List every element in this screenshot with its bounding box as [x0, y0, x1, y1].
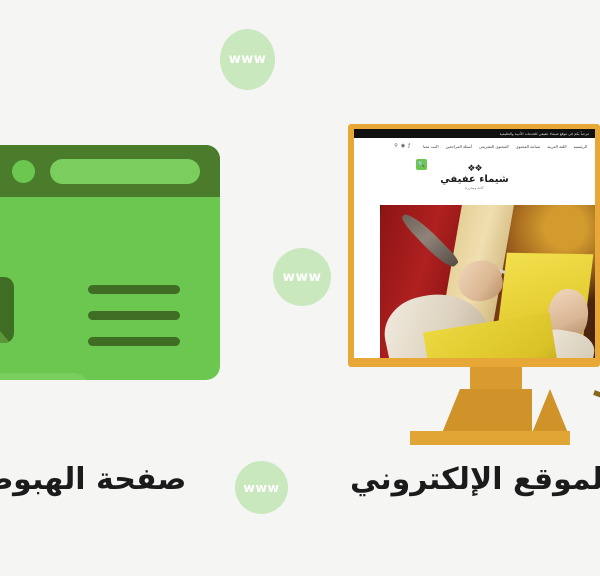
- nav-item-content[interactable]: صناعة المحتوى: [516, 144, 541, 149]
- monitor-bezel: مرحباً بكم في موقع شيماء عفيفي للخدمات ا…: [348, 124, 600, 367]
- nav-item-arabic[interactable]: اللغة العربية: [547, 144, 566, 149]
- www-bubble-label: www: [243, 480, 279, 495]
- cta-placeholder: [0, 373, 90, 380]
- www-bubble-label: www: [229, 52, 267, 67]
- monitor-stand-right: [532, 389, 568, 433]
- site-hero-image: [380, 205, 595, 358]
- site-logo[interactable]: ❖❖ شيماء عفيفي كاتبة ومحررة: [354, 165, 595, 190]
- site-social-icons: ⚲ ◉ ƒ: [394, 144, 410, 149]
- facebook-icon[interactable]: ƒ: [408, 144, 410, 149]
- browser-mockup: [0, 145, 220, 380]
- site-announcement-bar: مرحباً بكم في موقع شيماء عفيفي للخدمات ا…: [354, 129, 595, 138]
- monitor-base: [410, 431, 570, 445]
- nav-item-faq[interactable]: أسئلة المراجعين: [446, 144, 472, 149]
- www-bubble-top: www: [220, 29, 275, 90]
- caption-website: الموقع الإلكتروني: [350, 465, 600, 495]
- window-dot-icon: [12, 160, 35, 183]
- address-bar: [50, 159, 200, 184]
- logo-name: شيماء عفيفي: [354, 174, 595, 187]
- instagram-icon[interactable]: ◉: [401, 144, 405, 149]
- text-line-placeholder: [88, 311, 180, 320]
- nav-item-legislative[interactable]: المحتوى التشريعي: [479, 144, 509, 149]
- search-icon[interactable]: ⚲: [394, 144, 398, 149]
- caption-landing-page: صفحة الهبوط: [0, 465, 186, 495]
- www-bubble-middle: www: [273, 248, 331, 306]
- logo-subtitle: كاتبة ومحررة: [354, 187, 595, 190]
- text-line-placeholder: [88, 337, 180, 346]
- monitor-neck: [470, 367, 522, 389]
- logo-mark-icon: ❖❖: [354, 165, 595, 174]
- power-cable: [593, 390, 600, 412]
- site-navbar: الرئيسية اللغة العربية صناعة المحتوى الم…: [354, 138, 595, 155]
- monitor-screen: مرحباً بكم في موقع شيماء عفيفي للخدمات ا…: [354, 129, 595, 358]
- illustration-canvas: www www www مرحباً بكم في موقع شيماء عفي…: [0, 0, 600, 576]
- nav-item-home[interactable]: الرئيسية: [574, 144, 587, 149]
- desktop-monitor: مرحباً بكم في موقع شيماء عفيفي للخدمات ا…: [348, 124, 600, 376]
- image-placeholder-icon: [0, 277, 14, 343]
- monitor-stand-body: [460, 389, 532, 433]
- www-bubble-bottom: www: [235, 461, 288, 514]
- site-announcement-text: مرحباً بكم في موقع شيماء عفيفي للخدمات ا…: [500, 132, 589, 136]
- text-line-placeholder: [88, 285, 180, 294]
- nav-item-write[interactable]: اكتب معنا: [423, 144, 439, 149]
- www-bubble-label: www: [283, 269, 322, 285]
